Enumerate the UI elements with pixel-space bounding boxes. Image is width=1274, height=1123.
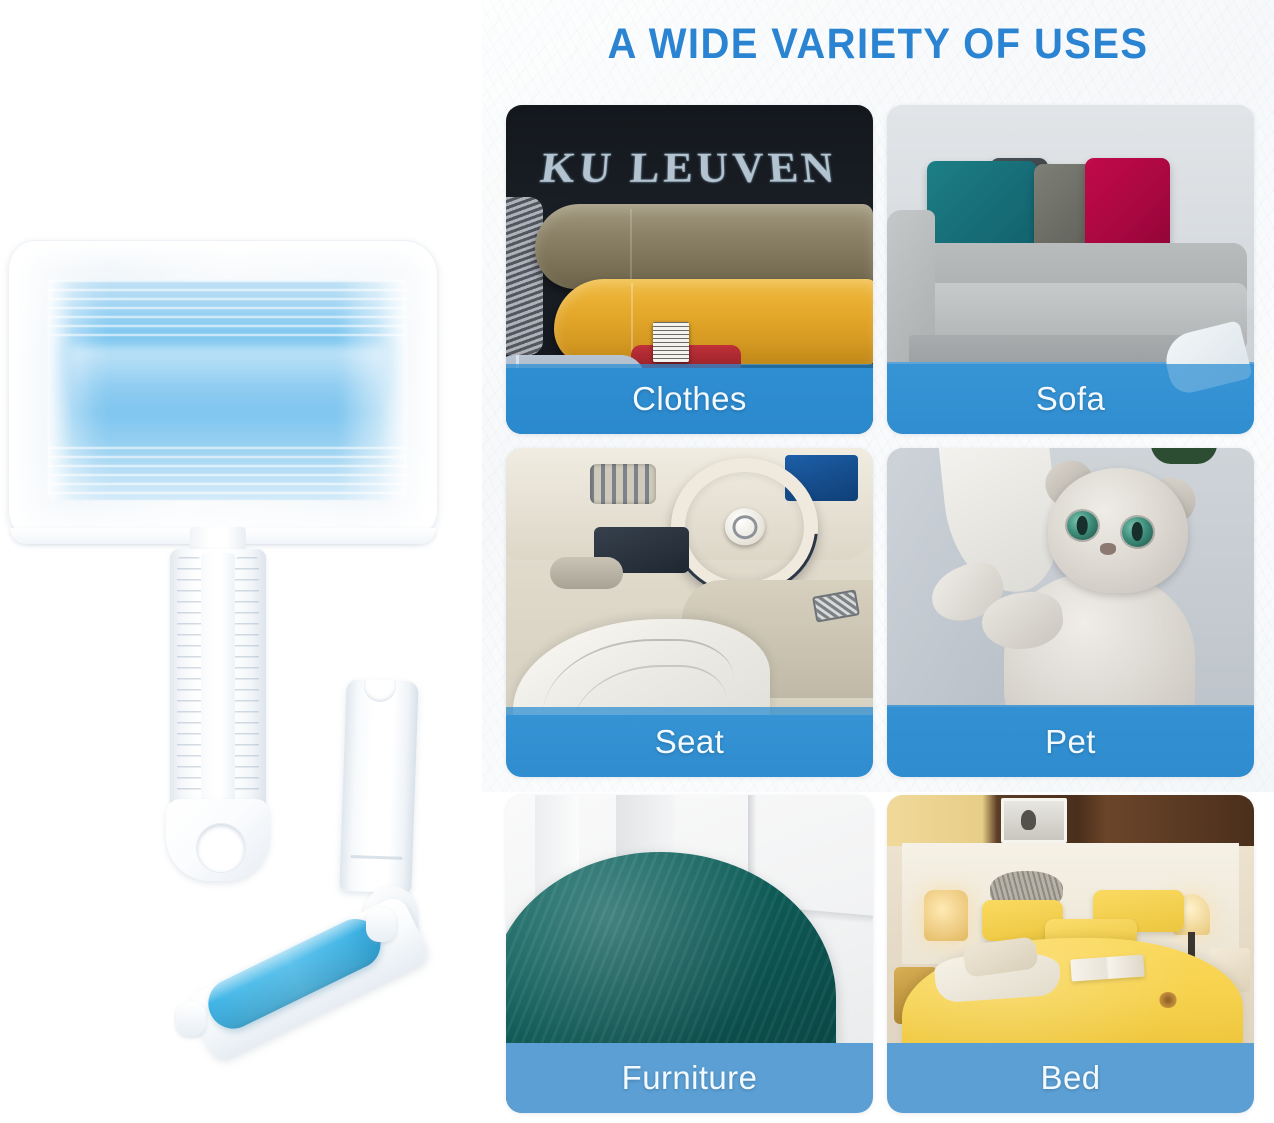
large-lint-roller-with-case — [8, 240, 438, 540]
car-steering-wheel — [671, 458, 818, 596]
use-tile-sofa[interactable]: Sofa — [887, 105, 1254, 434]
page-title: A WIDE VARIETY OF USES — [510, 20, 1247, 69]
roller-case-shell — [8, 240, 438, 540]
product-pane — [0, 0, 482, 1123]
use-tile-label-seat: Seat — [506, 707, 873, 777]
use-tile-label-bed: Bed — [887, 1043, 1254, 1113]
uses-grid-bottom: Furniture — [506, 795, 1254, 1113]
bedroom-wall-art — [1001, 798, 1067, 843]
pet-kitten-eye-right — [1122, 517, 1153, 547]
uses-grid-top: KU LEUVEN Clothes — [506, 105, 1254, 777]
bed-embroidery-motif — [1159, 992, 1177, 1008]
use-tile-label-clothes: Clothes — [506, 364, 873, 434]
uses-pane: A WIDE VARIETY OF USES KU LEUVEN Clothes — [482, 0, 1274, 1123]
clothes-khaki-garment — [535, 204, 873, 290]
bedroom-lamp-left — [924, 890, 968, 941]
car-gear-area — [550, 557, 623, 590]
mini-roller-end-cap-left — [176, 1002, 206, 1036]
pet-background-plant — [1151, 448, 1217, 464]
folding-mini-lint-roller — [168, 672, 450, 1064]
clothes-knit-sweater — [506, 197, 543, 355]
car-air-vents — [590, 464, 656, 503]
use-tile-pet[interactable]: Pet — [887, 448, 1254, 777]
use-tile-clothes[interactable]: KU LEUVEN Clothes — [506, 105, 873, 434]
mini-roller-grip — [339, 679, 418, 893]
use-tile-bed[interactable]: Bed — [887, 795, 1254, 1113]
use-tile-label-furniture: Furniture — [506, 1043, 873, 1113]
pet-kitten-eye-left — [1067, 511, 1098, 541]
pet-kitten-nose — [1100, 543, 1117, 554]
use-tile-label-sofa: Sofa — [887, 364, 1254, 434]
mini-roller-end-cap-right — [366, 908, 396, 942]
clothes-care-tag — [653, 322, 690, 361]
use-tile-seat[interactable]: Seat — [506, 448, 873, 777]
bedroom-ceiling-panel — [887, 795, 1254, 846]
use-tile-label-pet: Pet — [887, 707, 1254, 777]
case-frost-overlay — [9, 241, 437, 539]
use-tile-furniture[interactable]: Furniture — [506, 795, 873, 1113]
